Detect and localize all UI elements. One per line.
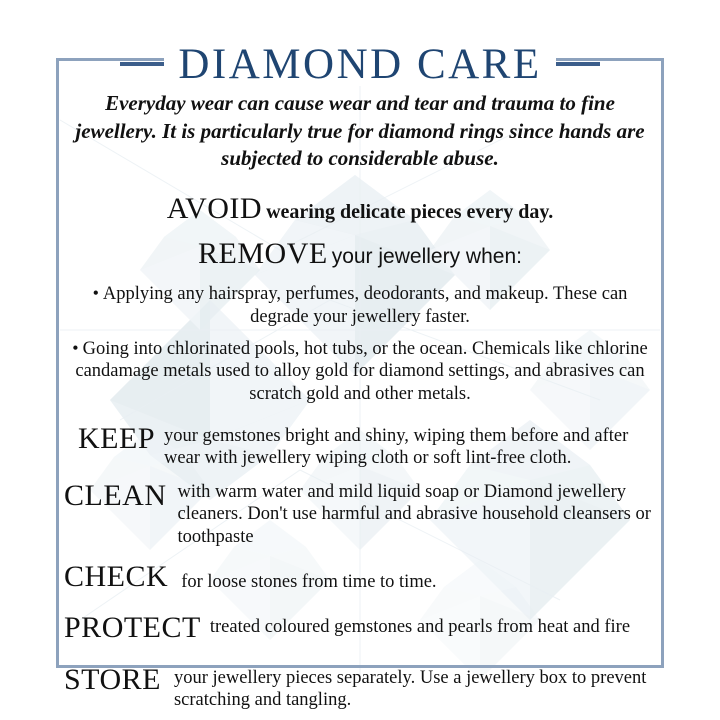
instruction-store: STORE your jewellery pieces separately. … — [60, 665, 660, 711]
protect-body: treated coloured gemstones and pearls fr… — [201, 613, 660, 638]
instruction-protect: PROTECT treated coloured gemstones and p… — [60, 613, 660, 643]
title-band: DIAMOND CARE — [0, 38, 720, 90]
list-item: •Going into chlorinated pools, hot tubs,… — [60, 337, 660, 406]
clean-body: with warm water and mild liquid soap or … — [167, 481, 661, 548]
check-keyword: CHECK — [64, 562, 168, 592]
bullet-marker: • — [72, 338, 82, 358]
protect-keyword: PROTECT — [64, 613, 201, 643]
title-dash-right — [556, 62, 600, 66]
keep-body: your gemstones bright and shiny, wiping … — [155, 424, 660, 469]
intro-paragraph: Everyday wear can cause wear and tear an… — [74, 90, 646, 173]
instruction-clean: CLEAN with warm water and mild liquid so… — [60, 481, 660, 548]
avoid-body: wearing delicate pieces every day. — [266, 201, 553, 223]
poster-content: Everyday wear can cause wear and tear an… — [60, 90, 660, 711]
avoid-keyword: AVOID — [167, 192, 262, 225]
diamond-care-poster: DIAMOND CARE Everyday wear can cause wea… — [0, 0, 720, 720]
remove-bullet-list: •Applying any hairspray, perfumes, deodo… — [60, 282, 660, 406]
list-item: •Applying any hairspray, perfumes, deodo… — [60, 282, 660, 329]
bullet-text: Applying any hairspray, perfumes, deodor… — [103, 284, 628, 327]
remove-keyword: REMOVE — [198, 237, 328, 270]
clean-keyword: CLEAN — [64, 481, 167, 511]
avoid-line: AVOID wearing delicate pieces every day. — [60, 192, 660, 226]
check-body: for loose stones from time to time. — [168, 562, 660, 593]
keep-keyword: KEEP — [78, 424, 155, 454]
remove-line: REMOVE your jewellery when: — [60, 237, 660, 271]
page-title: DIAMOND CARE — [164, 43, 555, 86]
store-body: your jewellery pieces separately. Use a … — [161, 665, 660, 711]
store-keyword: STORE — [64, 665, 161, 695]
bullet-text: Going into chlorinated pools, hot tubs, … — [75, 339, 647, 405]
remove-body: your jewellery when: — [332, 245, 522, 268]
bullet-marker: • — [93, 283, 103, 303]
instruction-check: CHECK for loose stones from time to time… — [60, 562, 660, 593]
title-dash-left — [120, 62, 164, 66]
instruction-keep: KEEP your gemstones bright and shiny, wi… — [60, 424, 660, 469]
